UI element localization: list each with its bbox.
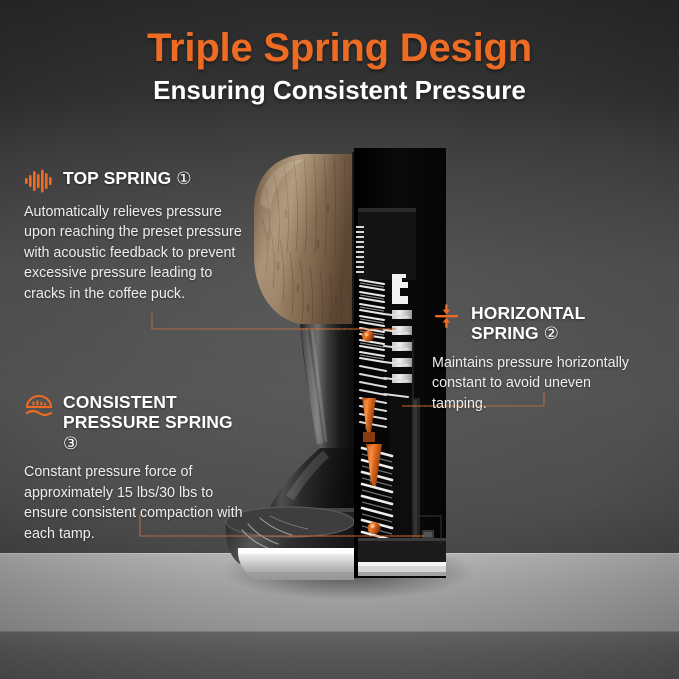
callout-number: ① (176, 169, 191, 188)
callout-header: CONSISTENT PRESSURE SPRING ③ (24, 392, 250, 453)
poster-title: Triple Spring Design (0, 0, 679, 71)
spring-arch-icon (24, 393, 54, 417)
callout-header: TOP SPRING ① (24, 168, 242, 193)
callout-body: Maintains pressure horizontally constant… (432, 353, 648, 414)
callout-number: ② (544, 324, 559, 343)
poster-subtitle: Ensuring Consistent Pressure (0, 71, 679, 106)
callout-body: Constant pressure force of approximately… (24, 462, 250, 544)
callout-body: Automatically relieves pressure upon rea… (24, 202, 242, 304)
callout-title-text: HORIZONTAL SPRING (471, 303, 585, 343)
callout-title: HORIZONTAL SPRING ② (471, 303, 648, 344)
callout-title: CONSISTENT PRESSURE SPRING ③ (63, 392, 250, 453)
callout-title-text: CONSISTENT PRESSURE SPRING (63, 392, 233, 432)
callout-top-spring: TOP SPRING ① Automatically relieves pres… (24, 168, 242, 304)
poster-header: Triple Spring Design Ensuring Consistent… (0, 0, 679, 106)
callout-header: HORIZONTAL SPRING ② (432, 303, 648, 344)
ground-band-front (0, 631, 679, 679)
sound-wave-icon (24, 169, 54, 193)
callout-number: ③ (63, 434, 78, 453)
callout-consistent-pressure-spring: CONSISTENT PRESSURE SPRING ③ Constant pr… (24, 392, 250, 544)
callout-title-text: TOP SPRING (63, 168, 171, 188)
vertical-compression-icon (432, 304, 462, 328)
callout-horizontal-spring: HORIZONTAL SPRING ② Maintains pressure h… (432, 303, 648, 414)
callout-title: TOP SPRING ① (63, 168, 192, 189)
infographic-poster: Triple Spring Design Ensuring Consistent… (0, 0, 679, 679)
